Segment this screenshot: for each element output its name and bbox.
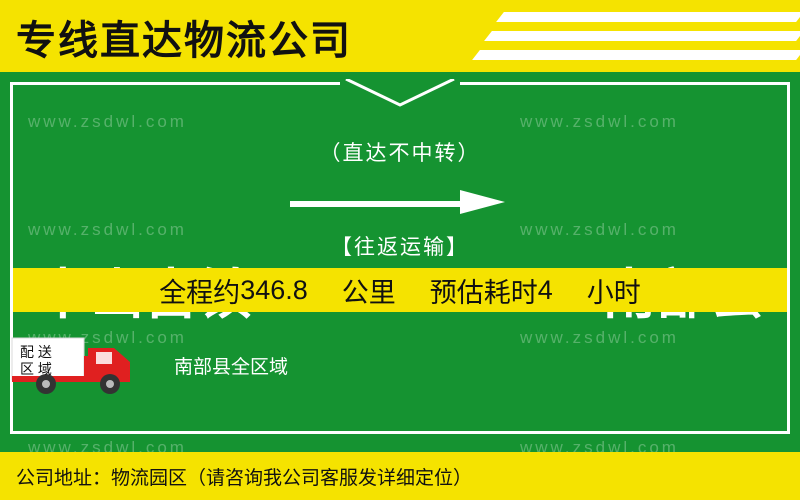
direct-note: （直达不中转） [290,137,510,167]
svg-text:配 送: 配 送 [20,344,52,360]
distance-unit: 公里 [342,271,396,310]
header-stripes [440,0,800,72]
svg-text:区 域: 区 域 [20,361,52,377]
route-arrow-icon [290,185,510,219]
logistics-banner: 专线直达物流公司 www.zsdwl.com www.zsdwl.com www… [0,0,800,500]
frame-notch [340,79,460,107]
round-trip-note: 【往返运输】 [290,231,510,261]
duration-prefix: 预估耗时 [430,271,538,310]
truck-icon: 配 送 区 域 [10,332,160,398]
distance-value: 346.8 [240,275,308,306]
distance-prefix: 全程约 [159,271,240,310]
footer-bar: 公司地址： 物流园区（请咨询我公司客服发详细定位） [0,452,800,500]
route-middle: （直达不中转） 【往返运输】 [290,137,510,261]
page-title: 专线直达物流公司 [16,8,352,66]
header-bar: 专线直达物流公司 [0,0,800,72]
duration-unit: 小时 [587,271,641,310]
delivery-area-label: 南部县全区域 [174,352,288,379]
distance-band: 全程约 346.8 公里 预估耗时 4 小时 [13,268,787,312]
address-value: 物流园区（请咨询我公司客服发详细定位） [111,463,472,490]
address-label: 公司地址： [16,463,111,490]
duration-value: 4 [538,275,553,306]
delivery-row: 配 送 区 域 南部县全区域 [10,330,288,400]
